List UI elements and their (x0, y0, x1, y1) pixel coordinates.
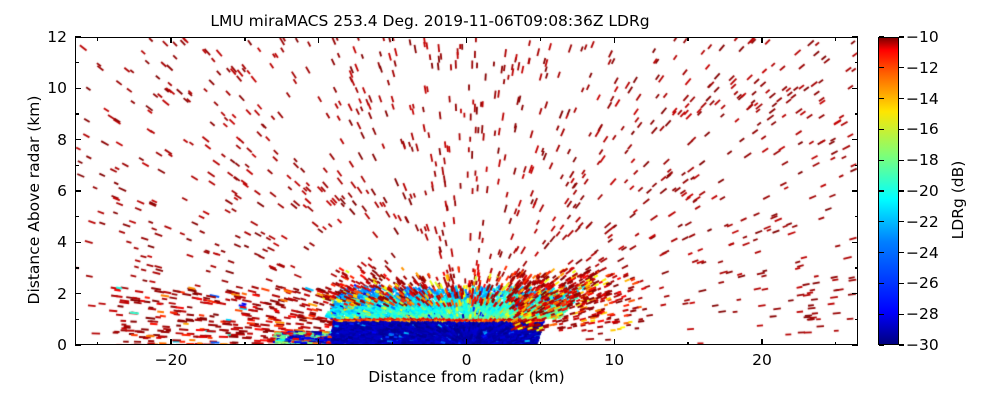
x-tick-minor (392, 342, 393, 346)
y-tick-major-right (852, 190, 858, 191)
x-tick-minor (392, 37, 393, 41)
colorbar-tick-label: −30 (906, 336, 939, 354)
y-tick-major (75, 242, 81, 243)
colorbar-tick (899, 36, 904, 37)
radar-scatter-canvas (76, 38, 858, 345)
x-tick-minor (687, 37, 688, 41)
x-tick-label: 10 (604, 351, 624, 369)
x-tick-minor (97, 37, 98, 41)
figure-canvas: LMU miraMACS 253.4 Deg. 2019-11-06T09:08… (0, 0, 1000, 400)
colorbar-tick-label: −16 (906, 120, 939, 138)
y-tick-major (75, 293, 81, 294)
x-tick-minor (835, 37, 836, 41)
colorbar-tick-label: −14 (906, 90, 939, 108)
y-tick-major-right (852, 88, 858, 89)
y-tick-minor (75, 62, 79, 63)
y-tick-major (75, 190, 81, 191)
colorbar-tick-inner (879, 190, 884, 191)
colorbar-tick-inner (879, 36, 884, 37)
x-tick-major-top (614, 37, 615, 43)
colorbar-tick (899, 160, 904, 161)
x-tick-minor (540, 342, 541, 346)
y-tick-minor (855, 267, 859, 268)
colorbar-tick-label: −10 (906, 28, 939, 46)
y-axis-title: Distance Above radar (km) (25, 70, 43, 330)
plot-title: LMU miraMACS 253.4 Deg. 2019-11-06T09:08… (0, 12, 860, 30)
y-tick-major-right (852, 293, 858, 294)
y-tick-label: 12 (27, 28, 67, 46)
colorbar-tick-label: −12 (906, 59, 939, 77)
x-axis-title: Distance from radar (km) (75, 368, 858, 386)
x-tick-label: −20 (155, 351, 188, 369)
x-tick-minor (835, 342, 836, 346)
plot-axes (75, 37, 858, 345)
colorbar-tick (899, 252, 904, 253)
colorbar-tick-inner (879, 160, 884, 161)
colorbar-tick-inner (879, 129, 884, 130)
y-tick-minor (75, 267, 79, 268)
colorbar-tick (899, 283, 904, 284)
colorbar-tick-label: −20 (906, 182, 939, 200)
y-tick-major-right (852, 36, 858, 37)
colorbar-tick (899, 344, 904, 345)
x-tick-minor (97, 342, 98, 346)
y-tick-major-right (852, 344, 858, 345)
x-tick-major-top (466, 37, 467, 43)
colorbar-tick-inner (879, 314, 884, 315)
y-tick-minor (855, 113, 859, 114)
x-tick-minor (687, 342, 688, 346)
y-tick-minor (75, 165, 79, 166)
colorbar-title: LDRg (dB) (949, 80, 967, 320)
x-tick-label: 0 (462, 351, 472, 369)
x-tick-major-top (318, 37, 319, 43)
x-tick-label: −10 (302, 351, 335, 369)
colorbar-tick-label: −22 (906, 213, 939, 231)
colorbar-tick (899, 67, 904, 68)
y-tick-label: 0 (27, 336, 67, 354)
x-tick-label: 20 (752, 351, 772, 369)
x-tick-major-top (761, 37, 762, 43)
y-tick-minor (75, 113, 79, 114)
colorbar-tick (899, 98, 904, 99)
y-tick-minor (855, 319, 859, 320)
x-tick-major (614, 339, 615, 345)
colorbar-tick-label: −28 (906, 305, 939, 323)
y-tick-minor (855, 216, 859, 217)
y-tick-major (75, 36, 81, 37)
y-tick-minor (855, 165, 859, 166)
x-tick-minor (244, 342, 245, 346)
colorbar-tick (899, 190, 904, 191)
colorbar-tick (899, 314, 904, 315)
y-tick-major-right (852, 139, 858, 140)
x-tick-major (466, 339, 467, 345)
x-tick-minor (540, 37, 541, 41)
colorbar-tick-inner (879, 221, 884, 222)
x-tick-major (761, 339, 762, 345)
colorbar-tick-inner (879, 344, 884, 345)
y-tick-major (75, 139, 81, 140)
y-tick-major (75, 88, 81, 89)
y-tick-minor (855, 62, 859, 63)
colorbar-tick-label: −18 (906, 151, 939, 169)
colorbar-tick-label: −26 (906, 274, 939, 292)
colorbar-tick (899, 129, 904, 130)
y-tick-minor (75, 319, 79, 320)
colorbar-tick-inner (879, 252, 884, 253)
y-tick-minor (75, 216, 79, 217)
x-tick-major (318, 339, 319, 345)
x-tick-minor (244, 37, 245, 41)
colorbar-tick (899, 221, 904, 222)
y-tick-major-right (852, 242, 858, 243)
x-tick-major (170, 339, 171, 345)
colorbar-tick-label: −24 (906, 244, 939, 262)
y-tick-major (75, 344, 81, 345)
colorbar-tick-inner (879, 67, 884, 68)
x-tick-major-top (170, 37, 171, 43)
colorbar-tick-inner (879, 283, 884, 284)
colorbar-tick-inner (879, 98, 884, 99)
